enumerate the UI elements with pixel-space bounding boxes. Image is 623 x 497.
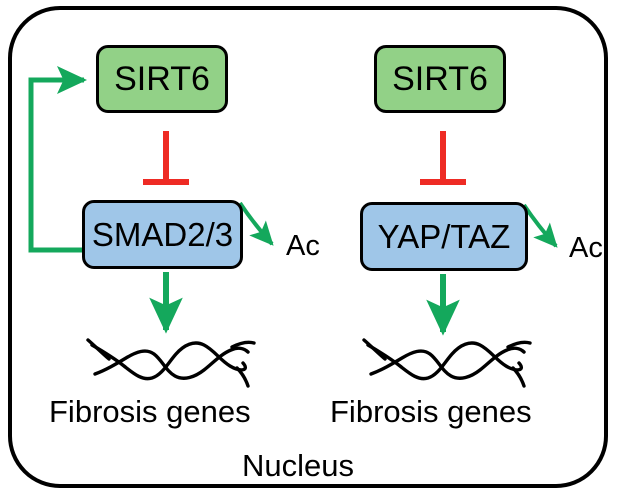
fibrosis-genes-label-right: Fibrosis genes [330, 396, 532, 427]
node-yap-taz[interactable]: YAP/TAZ [360, 202, 528, 271]
nucleus-label: Nucleus [242, 450, 354, 481]
acetyl-label-right: Ac [569, 234, 603, 263]
node-smad23[interactable]: SMAD2/3 [82, 200, 243, 269]
acetyl-label-left: Ac [286, 232, 320, 261]
node-sirt6-left[interactable]: SIRT6 [96, 45, 228, 113]
node-sirt6-right[interactable]: SIRT6 [374, 45, 506, 113]
fibrosis-genes-label-left: Fibrosis genes [49, 396, 251, 427]
figure-canvas: SIRT6 SMAD2/3 Ac Fibrosis genes SIRT6 YA… [0, 0, 623, 497]
